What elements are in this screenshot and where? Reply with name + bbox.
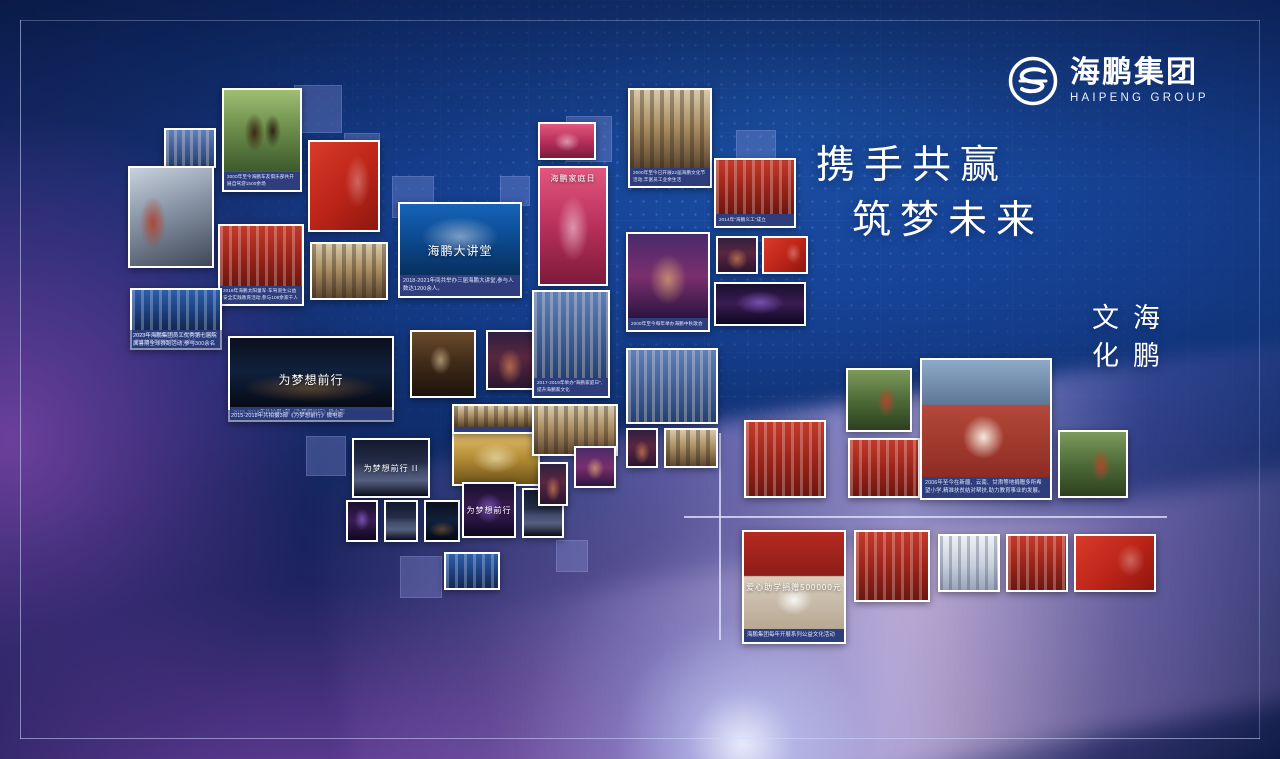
photo-image: [130, 168, 212, 266]
vertical-title-col-left: 文化: [1092, 300, 1119, 377]
photo-tile-red-calligraphy[interactable]: [308, 140, 380, 232]
photo-image: [716, 160, 794, 214]
photo-tile-mid-autumn-gala[interactable]: 2000年至今每年举办海鹏中秋歌会: [626, 232, 710, 332]
photo-image: [746, 422, 824, 496]
photo-tile-hope-school[interactable]: 2006年至今在新疆、云南、甘肃等地捐赠多所希望小学,精准扶贫结对帮扶,助力教育…: [920, 358, 1052, 500]
photo-image: [488, 332, 532, 388]
photo-caption: 2014年"海鹏义工"成立: [716, 214, 794, 226]
photo-tile-small-g[interactable]: [664, 428, 718, 468]
photo-image: [576, 448, 614, 486]
photo-caption: 2000年至今每年举办海鹏中秋歌会: [628, 318, 708, 330]
divider-horizontal: [684, 516, 1167, 518]
photo-tile-stage-top[interactable]: [538, 122, 596, 160]
photo-image: [454, 432, 538, 484]
photo-image: [454, 406, 538, 427]
photo-image: [224, 90, 300, 172]
photo-image: [310, 142, 378, 230]
photo-tile-small-i[interactable]: [762, 236, 808, 274]
photo-image: [716, 284, 804, 324]
photo-tile-small-e[interactable]: [444, 552, 500, 590]
photo-tile-stage-small[interactable]: [486, 330, 534, 390]
photo-tile-conference-stage[interactable]: [452, 430, 540, 486]
headline-line-1: 携手共赢: [816, 146, 1116, 187]
photo-tile-small-c[interactable]: [424, 500, 460, 542]
haipeng-circle-s-logo-icon: [1008, 56, 1058, 106]
photo-tile-charity-ceremony[interactable]: [1074, 534, 1156, 592]
photo-caption: 2000年至今海鹏车友俱乐部共开展自驾游1500余场: [224, 172, 300, 190]
vertical-title-col-right: 海鹏: [1133, 300, 1160, 377]
photo-image: [446, 554, 498, 588]
photo-tile-charity-child[interactable]: [846, 368, 912, 432]
photo-image: [848, 370, 910, 430]
photo-image: 海鹏大讲堂: [400, 204, 520, 275]
photo-image: [1060, 432, 1126, 496]
photo-image: [628, 234, 708, 318]
photo-tile-safety-education[interactable]: 2018年海鹏太阳童军·车驾道生公益安全实践教育活动,参与108余家千人: [218, 224, 304, 306]
photo-tile-lecture-hall[interactable]: 海鹏大讲堂 2018-2021年间共举办三届海鹏大讲堂,参与人数达1200余人。: [398, 202, 522, 298]
caption-micro-film: 2015-2018年共拍摄3部《为梦想前行》微电影: [228, 410, 394, 422]
photo-image: [628, 430, 656, 466]
frame-line-bottom: [20, 738, 1260, 739]
photo-image: [220, 226, 302, 286]
decor-square: [306, 436, 346, 476]
photo-image: [166, 130, 214, 166]
caption-overseas-trip: 2023年海鹏集团员工优秀第七届院属暑期全球赛跑活动,参与300余名: [130, 330, 222, 350]
photo-image: [312, 244, 386, 298]
vertical-section-title: 海鹏 文化: [1092, 300, 1160, 377]
photo-tile-volunteer-team[interactable]: 2014年"海鹏义工"成立: [714, 158, 796, 228]
photo-image: [922, 360, 1050, 477]
photo-image: 海鹏家庭日: [540, 168, 606, 284]
culture-wall-poster: 2000年至今海鹏车友俱乐部共开展自驾游1500余场 2018年海鹏太阳童军·车…: [0, 0, 1280, 759]
photo-image: [132, 290, 220, 330]
photo-tile-charity-group[interactable]: [848, 438, 920, 498]
vertical-title-char: 文: [1092, 300, 1119, 338]
photo-tile-banquet[interactable]: [310, 242, 388, 300]
photo-overlay-text: 为梦想前行 II: [354, 440, 428, 496]
photo-tile-speaker[interactable]: [410, 330, 476, 398]
photo-image: [940, 536, 998, 590]
photo-tile-school-field[interactable]: [1058, 430, 1128, 498]
photo-caption: 海鹏集团每年开展系列公益文化活动: [744, 629, 844, 642]
photo-image: 为梦想前行 II: [354, 440, 428, 496]
photo-tile-dancer[interactable]: [574, 446, 616, 488]
photo-caption: 2017-2019年举办"海鹏家庭日",提升海鹏家文化: [534, 378, 608, 396]
photo-image: [540, 464, 566, 504]
brand-logo: 海鹏集团 HAIPENG GROUP: [1008, 56, 1209, 106]
photo-tile-audience[interactable]: [626, 348, 718, 424]
vertical-title-char: 海: [1133, 300, 1160, 338]
brand-logo-text: 海鹏集团 HAIPENG GROUP: [1070, 58, 1209, 105]
photo-tile-family-day[interactable]: 2017-2019年举办"海鹏家庭日",提升海鹏家文化: [532, 290, 610, 398]
photo-image: [348, 502, 376, 540]
photo-image: [850, 440, 918, 496]
photo-tile-small-b[interactable]: [384, 500, 418, 542]
photo-caption: 2000年至今已开展22届海鹏文化节活动,丰富员工业余生活: [630, 168, 710, 186]
photo-tile-culture-festival[interactable]: 2000年至今已开展22届海鹏文化节活动,丰富员工业余生活: [628, 88, 712, 188]
photo-overlay-text: 为梦想前行: [464, 484, 514, 536]
photo-image: [628, 350, 716, 422]
photo-tile-small-f[interactable]: [626, 428, 658, 468]
photo-image: 为梦想前行: [230, 338, 392, 407]
photo-caption: 2018年海鹏太阳童军·车驾道生公益安全实践教育活动,参与108余家千人: [220, 286, 302, 304]
photo-image: [764, 238, 806, 272]
photo-tile-micro-film-2[interactable]: 为梦想前行 II: [352, 438, 430, 498]
photo-image: [666, 430, 716, 466]
photo-image: [718, 238, 756, 272]
photo-tile-gala-stage[interactable]: [714, 282, 806, 326]
vertical-title-char: 化: [1092, 338, 1119, 376]
photo-tile-small-a[interactable]: [346, 500, 378, 542]
photo-image: 为梦想前行: [464, 484, 514, 536]
photo-image: [426, 502, 458, 540]
photo-image: [534, 292, 608, 378]
photo-image: [856, 532, 928, 600]
decor-square: [400, 556, 442, 598]
photo-tile-family-day-kv[interactable]: 海鹏家庭日: [538, 166, 608, 286]
brand-name-en: HAIPENG GROUP: [1070, 93, 1209, 105]
photo-tile-charity-banner[interactable]: [854, 530, 930, 602]
photo-image: [540, 124, 594, 158]
photo-tile-vintage-car[interactable]: [128, 166, 214, 268]
frame-line-left: [20, 20, 21, 739]
photo-overlay-text: 爱心助学捐赠500000元: [744, 532, 844, 642]
photo-image: [1076, 536, 1154, 590]
photo-image: [1008, 536, 1066, 590]
photo-image: [412, 332, 474, 396]
photo-tile-small-h[interactable]: [716, 236, 758, 274]
photo-tile-singer[interactable]: [538, 462, 568, 506]
vertical-title-char: 鹏: [1133, 338, 1160, 376]
brand-name-cn: 海鹏集团: [1070, 58, 1209, 88]
photo-tile-charity-red[interactable]: [1006, 534, 1068, 592]
photo-overlay-text: 海鹏家庭日: [540, 168, 606, 284]
photo-caption: 2018-2021年间共举办三届海鹏大讲堂,参与人数达1200余人。: [400, 275, 520, 296]
photo-tile-anniversary-meeting[interactable]: [452, 404, 540, 434]
photo-image: [386, 502, 416, 540]
photo-image: [630, 90, 710, 168]
frame-line-top: [20, 20, 1260, 21]
photo-tile-equestrian[interactable]: 2000年至今海鹏车友俱乐部共开展自驾游1500余场: [222, 88, 302, 192]
photo-caption: 2006年至今在新疆、云南、甘肃等地捐赠多所希望小学,精准扶贫结对帮扶,助力教育…: [922, 477, 1050, 498]
decor-square: [556, 540, 588, 572]
photo-tile-micro-film-3[interactable]: 为梦想前行: [462, 482, 516, 538]
photo-image: 爱心助学捐赠500000元: [744, 532, 844, 629]
photo-tile-charity-people[interactable]: [938, 534, 1000, 592]
photo-tile-charity-run[interactable]: [744, 420, 826, 498]
photo-tile-charity-series[interactable]: 爱心助学捐赠500000元 海鹏集团每年开展系列公益文化活动: [742, 530, 846, 644]
page-headline: 携手共赢 筑梦未来: [816, 146, 1116, 242]
headline-line-2: 筑梦未来: [852, 201, 1116, 242]
divider-vertical: [719, 433, 721, 640]
frame-line-right: [1259, 20, 1260, 739]
photo-tile[interactable]: [164, 128, 216, 168]
